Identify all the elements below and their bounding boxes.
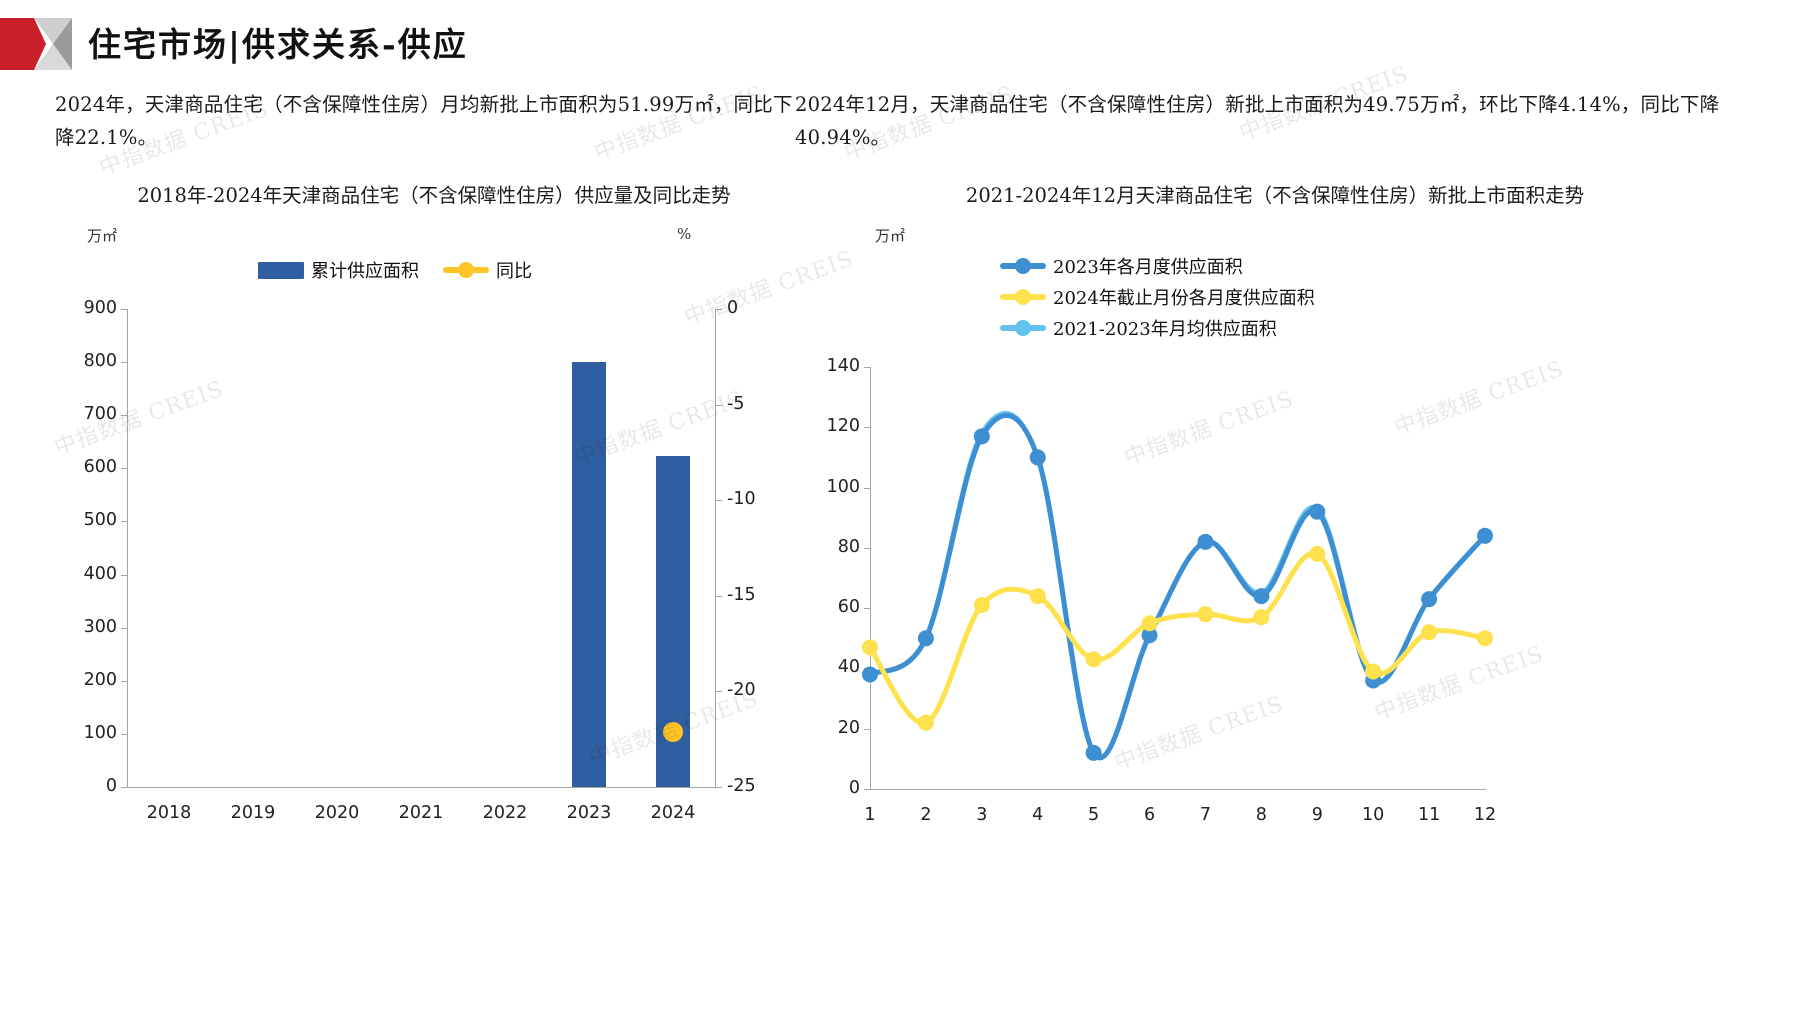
left-chart-y-unit: 万㎡ bbox=[87, 225, 117, 246]
left-chart-y2-tick-label: 0 bbox=[727, 298, 738, 318]
right-chart-data-point bbox=[1030, 588, 1046, 604]
right-chart-data-point bbox=[1197, 606, 1213, 622]
right-chart-y-unit: 万㎡ bbox=[875, 225, 905, 246]
left-chart-y-tick bbox=[121, 681, 127, 682]
legend-swatch-line-icon bbox=[443, 267, 489, 273]
legend-label-avg-2021-2023: 2021-2023年月均供应面积 bbox=[1053, 315, 1277, 341]
right-chart-data-point bbox=[918, 715, 934, 731]
left-chart-y-tick-label: 300 bbox=[61, 617, 117, 637]
left-summary-text: 2024年，天津商品住宅（不含保障性住房）月均新批上市面积为51.99万㎡，同比… bbox=[55, 88, 795, 154]
right-panel: 2024年12月，天津商品住宅（不含保障性住房）新批上市面积为49.75万㎡，环… bbox=[795, 88, 1755, 849]
legend-swatch-line-avg-icon bbox=[1000, 325, 1046, 331]
right-chart-title: 2021-2024年12月天津商品住宅（不含保障性住房）新批上市面积走势 bbox=[795, 180, 1755, 211]
legend-label-2024-monthly: 2024年截止月份各月度供应面积 bbox=[1053, 284, 1315, 310]
right-chart-data-point bbox=[918, 630, 934, 646]
right-chart-data-point bbox=[974, 428, 990, 444]
left-chart-y-tick-label: 200 bbox=[61, 670, 117, 690]
left-chart-y-axis bbox=[127, 309, 128, 787]
left-chart-y-tick bbox=[121, 521, 127, 522]
left-chart-y-tick bbox=[121, 628, 127, 629]
left-chart-x-tick-label: 2023 bbox=[547, 803, 631, 823]
left-chart-y-tick-label: 100 bbox=[61, 723, 117, 743]
right-chart-data-point bbox=[1253, 609, 1269, 625]
right-chart-data-point bbox=[1030, 449, 1046, 465]
legend-item-yoy[interactable]: 同比 bbox=[443, 257, 532, 283]
legend-item-2023-monthly[interactable]: 2023年各月度供应面积 bbox=[1000, 253, 1755, 279]
left-chart-bar bbox=[572, 362, 606, 787]
right-chart-lines bbox=[795, 349, 1555, 819]
left-chart-x-axis bbox=[127, 787, 716, 788]
left-chart-y2-tick bbox=[716, 691, 722, 692]
legend-swatch-line-2023-icon bbox=[1000, 263, 1046, 269]
right-chart-data-point bbox=[974, 597, 990, 613]
right-chart-data-point bbox=[1421, 624, 1437, 640]
left-chart-x-tick-label: 2020 bbox=[295, 803, 379, 823]
legend-item-avg-2021-2023[interactable]: 2021-2023年月均供应面积 bbox=[1000, 315, 1755, 341]
left-chart-y2-tick-label: -15 bbox=[727, 585, 756, 605]
right-chart-series-line bbox=[870, 413, 1485, 757]
legend-item-2024-monthly[interactable]: 2024年截止月份各月度供应面积 bbox=[1000, 284, 1755, 310]
left-chart-y2-tick-label: -20 bbox=[727, 680, 756, 700]
left-chart-y-tick-label: 800 bbox=[61, 351, 117, 371]
left-chart-y-tick bbox=[121, 362, 127, 363]
left-chart-x-tick-label: 2021 bbox=[379, 803, 463, 823]
legend-item-cumulative-supply[interactable]: 累计供应面积 bbox=[258, 257, 419, 283]
legend-swatch-bar-icon bbox=[258, 262, 304, 279]
right-chart-data-point bbox=[1365, 663, 1381, 679]
legend-label-2023-monthly: 2023年各月度供应面积 bbox=[1053, 253, 1243, 279]
left-chart-y2-tick bbox=[716, 309, 722, 310]
page-title: 住宅市场|供求关系-供应 bbox=[88, 18, 468, 66]
left-chart-y2-tick bbox=[716, 787, 722, 788]
legend-label-cumulative-supply: 累计供应面积 bbox=[311, 257, 419, 283]
left-chart-y-tick-label: 900 bbox=[61, 298, 117, 318]
left-chart-y2-unit: % bbox=[677, 225, 691, 243]
legend-swatch-line-2024-icon bbox=[1000, 294, 1046, 300]
right-chart-data-point bbox=[1309, 504, 1325, 520]
left-chart-x-tick-label: 2018 bbox=[127, 803, 211, 823]
page-header: 住宅市场|供求关系-供应 bbox=[0, 10, 1797, 72]
right-chart-data-point bbox=[1421, 591, 1437, 607]
left-chart-y-tick bbox=[121, 575, 127, 576]
left-chart-x-tick-label: 2024 bbox=[631, 803, 715, 823]
left-chart-y-tick-label: 700 bbox=[61, 404, 117, 424]
left-chart-y2-tick bbox=[716, 500, 722, 501]
left-chart-title: 2018年-2024年天津商品住宅（不含保障性住房）供应量及同比走势 bbox=[55, 180, 795, 211]
right-chart-plot: 020406080100120140123456789101112 bbox=[795, 349, 1755, 849]
right-chart-data-point bbox=[1142, 615, 1158, 631]
left-chart-y2-tick bbox=[716, 596, 722, 597]
left-chart-y-tick-label: 0 bbox=[61, 776, 117, 796]
right-chart-data-point bbox=[1086, 651, 1102, 667]
right-chart-series-line bbox=[870, 415, 1485, 757]
right-chart-data-point bbox=[1477, 630, 1493, 646]
left-chart-y2-tick-label: -5 bbox=[727, 394, 744, 414]
right-chart-data-point bbox=[862, 639, 878, 655]
right-chart-data-point bbox=[1309, 546, 1325, 562]
left-panel: 2024年，天津商品住宅（不含保障性住房）月均新批上市面积为51.99万㎡，同比… bbox=[55, 88, 795, 842]
right-chart-data-point bbox=[1086, 745, 1102, 761]
right-chart-data-point bbox=[862, 666, 878, 682]
left-chart-x-tick-label: 2019 bbox=[211, 803, 295, 823]
left-chart-y-tick bbox=[121, 734, 127, 735]
right-chart-data-point bbox=[1197, 534, 1213, 550]
left-chart-y2-tick-label: -10 bbox=[727, 489, 756, 509]
left-chart-x-tick-label: 2022 bbox=[463, 803, 547, 823]
left-chart-legend: 累计供应面积 同比 bbox=[55, 257, 795, 283]
left-chart-y2-axis bbox=[715, 309, 716, 787]
left-chart-y-tick bbox=[121, 309, 127, 310]
left-chart-y-tick bbox=[121, 415, 127, 416]
zhongzhi-logo-icon bbox=[0, 18, 72, 70]
right-chart-legend: 2023年各月度供应面积 2024年截止月份各月度供应面积 2021-2023年… bbox=[795, 253, 1755, 341]
left-chart-y-tick-label: 500 bbox=[61, 510, 117, 530]
left-chart-y2-tick bbox=[716, 405, 722, 406]
left-chart-y2-tick-label: -25 bbox=[727, 776, 756, 796]
left-chart-y-tick bbox=[121, 787, 127, 788]
right-chart-data-point bbox=[1253, 588, 1269, 604]
legend-label-yoy: 同比 bbox=[496, 257, 532, 283]
left-chart-y-tick bbox=[121, 468, 127, 469]
right-summary-text: 2024年12月，天津商品住宅（不含保障性住房）新批上市面积为49.75万㎡，环… bbox=[795, 88, 1755, 154]
right-chart-data-point bbox=[1477, 528, 1493, 544]
left-chart-yoy-marker bbox=[663, 722, 683, 742]
left-chart-y-tick-label: 400 bbox=[61, 564, 117, 584]
left-chart-y-tick-label: 600 bbox=[61, 457, 117, 477]
left-chart-plot: 01002003004005006007008009000-5-10-15-20… bbox=[55, 297, 795, 842]
